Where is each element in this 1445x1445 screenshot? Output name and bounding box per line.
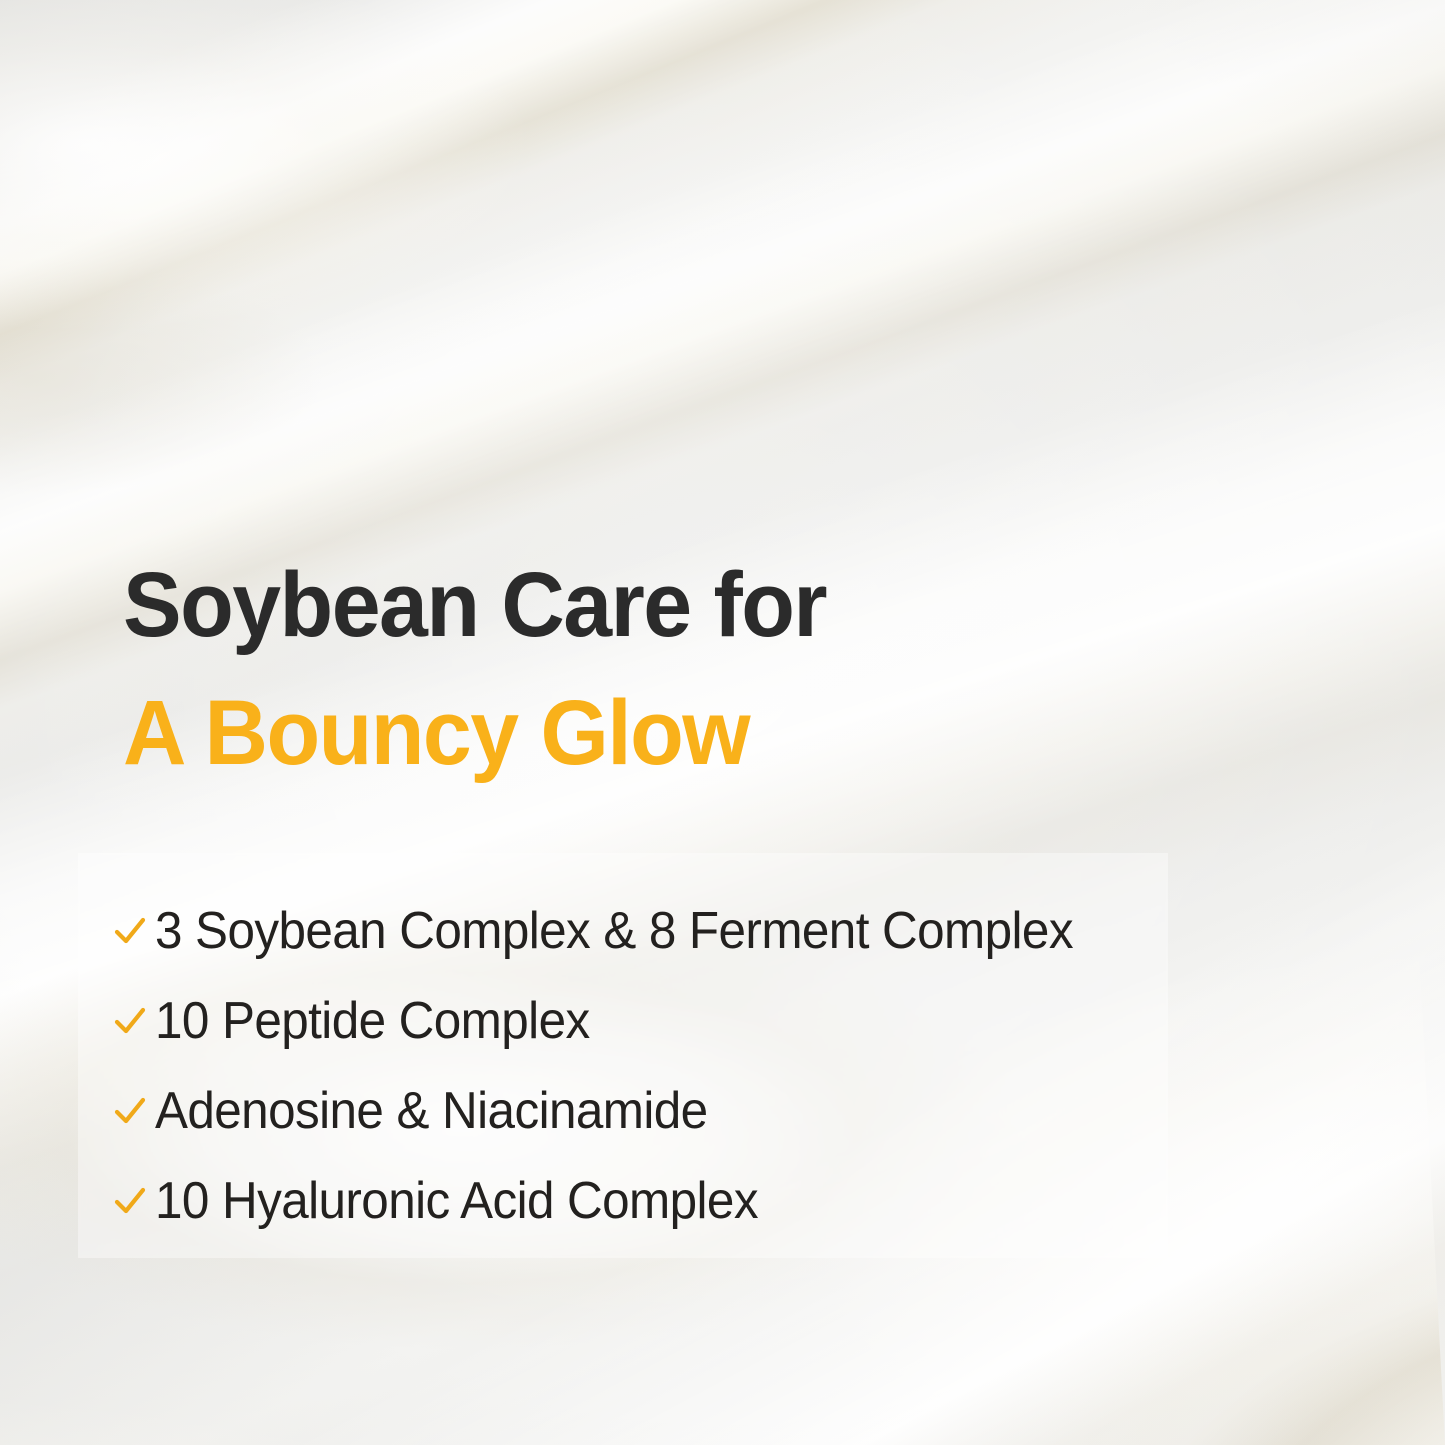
headline-block: Soybean Care for A Bouncy Glow [123, 560, 1223, 778]
headline-line-primary: Soybean Care for [123, 560, 1174, 688]
check-icon [112, 913, 148, 949]
benefit-label: 10 Hyaluronic Acid Complex [155, 1175, 758, 1227]
check-icon [112, 1003, 148, 1039]
benefit-label: Adenosine & Niacinamide [155, 1085, 708, 1137]
list-item: Adenosine & Niacinamide [112, 1066, 1192, 1156]
promo-image: Soybean Care for A Bouncy Glow 3 Soybean… [0, 0, 1445, 1445]
list-item: 10 Peptide Complex [112, 976, 1192, 1066]
check-icon [112, 1093, 148, 1129]
benefit-list: 3 Soybean Complex & 8 Ferment Complex 10… [112, 886, 1192, 1246]
headline-line-accent: A Bouncy Glow [123, 688, 1174, 778]
check-icon [112, 1183, 148, 1219]
list-item: 3 Soybean Complex & 8 Ferment Complex [112, 886, 1192, 976]
list-item: 10 Hyaluronic Acid Complex [112, 1156, 1192, 1246]
benefit-label: 10 Peptide Complex [155, 995, 590, 1047]
benefit-label: 3 Soybean Complex & 8 Ferment Complex [155, 905, 1073, 957]
